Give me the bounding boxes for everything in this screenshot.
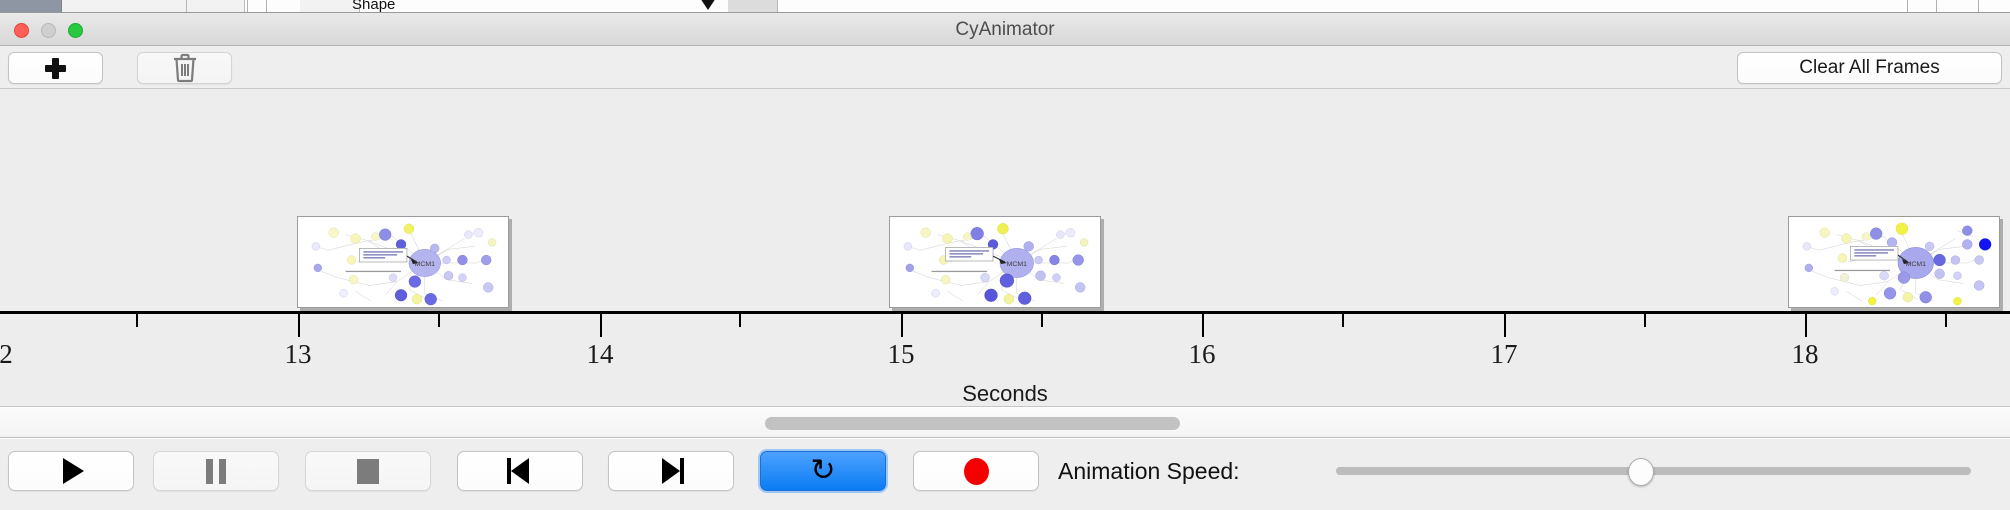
frame-thumbnail[interactable]: MCM1 [889,216,1101,308]
axis-title-seconds: Seconds [0,381,2010,407]
clear-all-frames-label: Clear All Frames [1799,57,1939,79]
axis-minor-tick [1342,314,1344,327]
animation-speed-label: Animation Speed: [1058,451,1240,491]
svg-text:MCM1: MCM1 [415,261,436,268]
background-window-strip: Shape [0,0,2010,13]
axis-major-tick [1805,314,1807,337]
axis-tick-label: 2 [0,339,13,370]
pause-icon [206,459,226,484]
skip-to-start-button[interactable] [457,451,583,491]
cyanimator-window: Shape CyAnimator Clear All Frames [0,0,2010,510]
loop-icon: ↻ [810,456,835,486]
bg-divider-3 [1907,0,1908,13]
bg-divider-4 [1936,0,1937,13]
bg-tab-dark [0,0,62,13]
axis-tick-label: 18 [1792,339,1819,370]
bg-divider-2 [266,0,267,13]
axis-minor-tick [1041,314,1043,327]
frame-thumbnail[interactable]: MCM1 [1788,216,2000,308]
plus-icon [45,58,66,79]
bg-tab-4 [728,0,778,13]
network-graph-preview: MCM1 [1789,217,1999,307]
animation-speed-slider-knob[interactable] [1628,458,1654,486]
axis-major-tick [298,314,300,337]
axis-minor-tick [438,314,440,327]
axis-minor-tick [136,314,138,327]
axis-major-tick [600,314,602,337]
bg-divider-5 [1978,0,1979,13]
axis-tick-label: 16 [1189,339,1216,370]
toolbar: Clear All Frames [0,46,2010,89]
record-button[interactable] [913,451,1039,491]
axis-tick-label: 17 [1491,339,1518,370]
play-icon [63,458,84,484]
skip-start-icon [507,458,533,484]
axis-minor-tick [1644,314,1646,327]
scrollbar-thumb[interactable] [765,417,1180,430]
network-graph-preview: MCM1 [298,217,508,307]
timeline-axis [0,311,2010,314]
loop-button[interactable]: ↻ [760,451,886,491]
bg-divider-1 [247,0,248,13]
axis-tick-label: 14 [587,339,614,370]
window-title: CyAnimator [0,13,2010,46]
bg-tab-1 [62,0,187,13]
stop-button[interactable] [305,451,431,491]
pause-button[interactable] [153,451,279,491]
network-graph-preview: MCM1 [890,217,1100,307]
frame-thumbnail[interactable]: MCM1 [297,216,509,308]
record-icon [964,458,989,485]
axis-tick-label: 15 [888,339,915,370]
axis-minor-tick [739,314,741,327]
skip-to-end-button[interactable] [608,451,734,491]
delete-frame-button[interactable] [137,52,232,84]
axis-major-tick [901,314,903,337]
trash-icon [172,53,198,83]
bg-window-text: Shape [352,0,395,13]
bg-tab-2 [187,0,245,13]
stop-icon [357,459,379,484]
bg-notch-icon [700,0,716,10]
title-bar: CyAnimator [0,13,2010,46]
timeline-panel[interactable]: MCM1 [0,89,2010,407]
svg-text:MCM1: MCM1 [1906,261,1927,268]
clear-all-frames-button[interactable]: Clear All Frames [1737,52,2002,84]
skip-end-icon [658,458,684,484]
timeline-horizontal-scrollbar[interactable] [0,408,2010,438]
playback-control-bar: ↻ Animation Speed: [0,439,2010,510]
play-button[interactable] [8,451,134,491]
axis-minor-tick [1945,314,1947,327]
axis-major-tick [1202,314,1204,337]
add-frame-button[interactable] [8,52,103,84]
axis-major-tick [1504,314,1506,337]
axis-tick-label: 13 [285,339,312,370]
bg-tab-3 [300,0,360,13]
svg-text:MCM1: MCM1 [1007,261,1028,268]
